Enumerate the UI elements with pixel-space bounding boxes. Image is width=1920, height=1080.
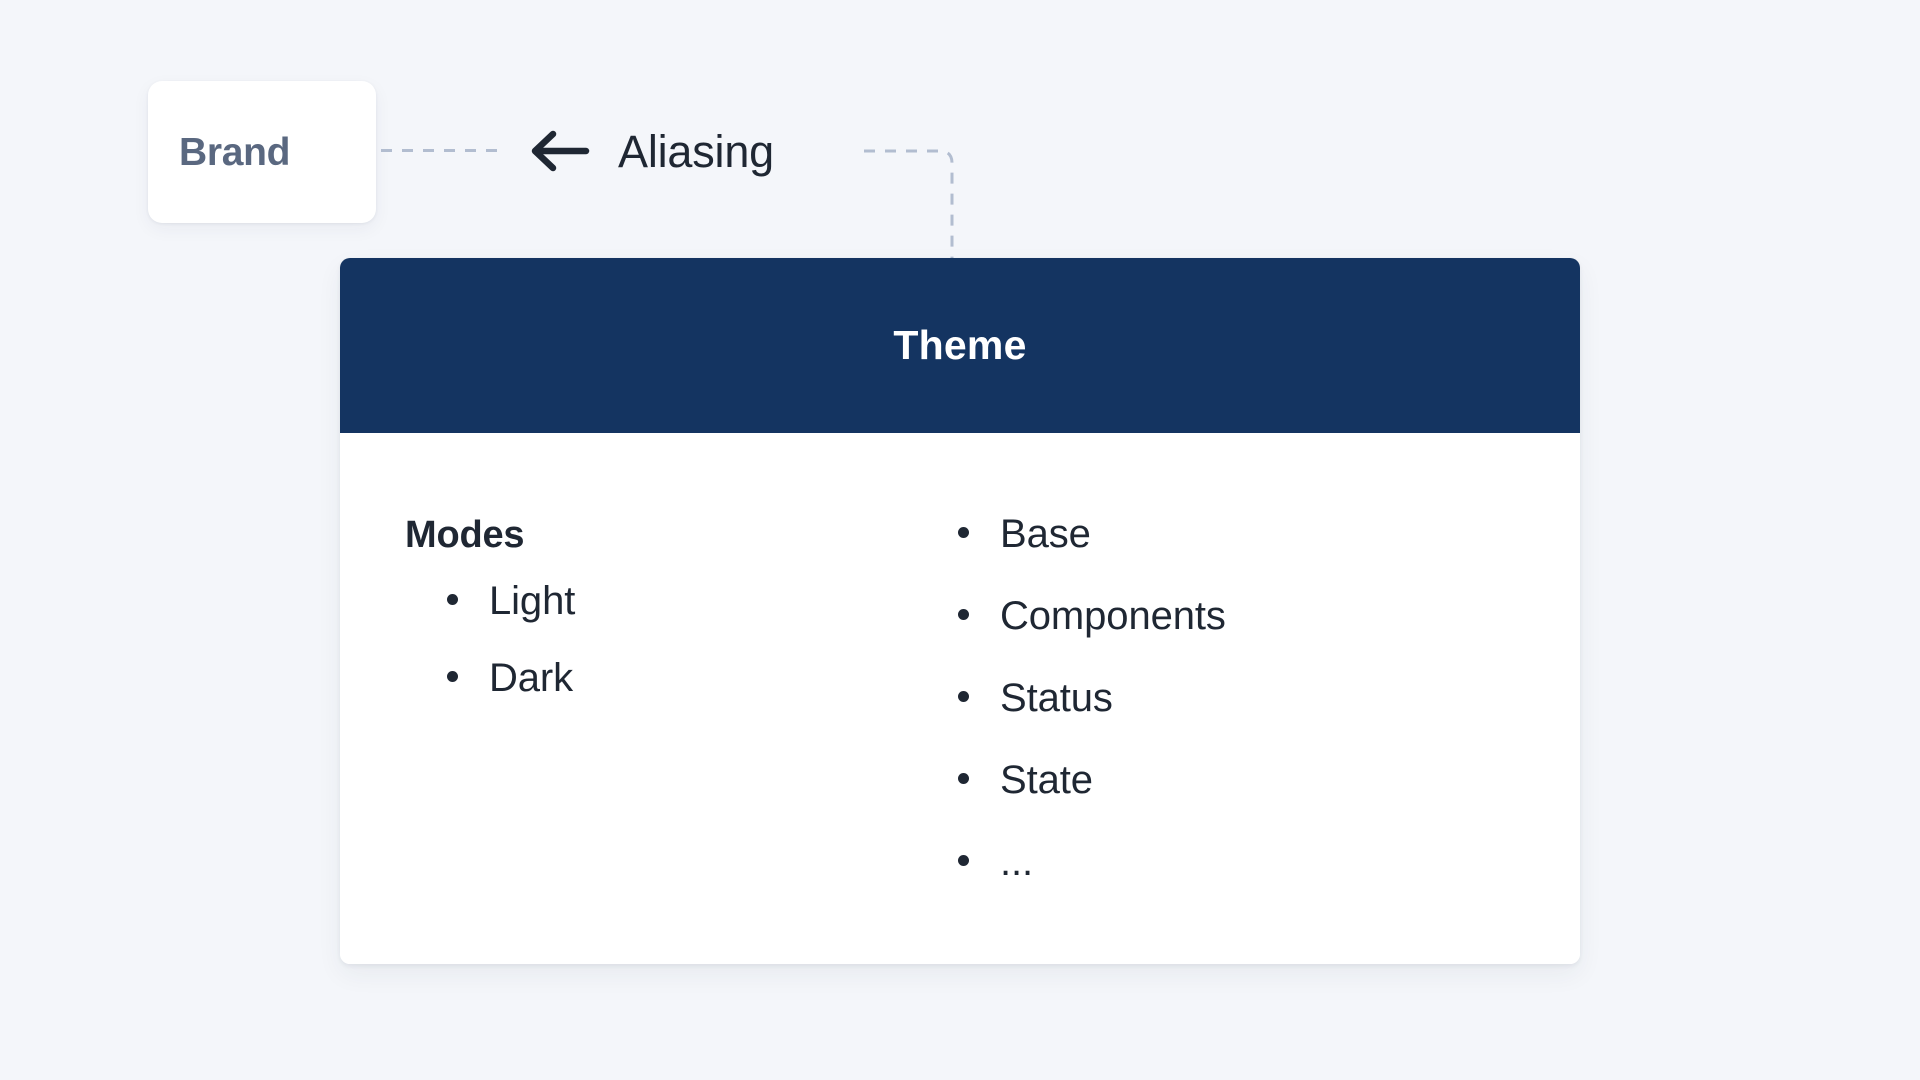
connector-aliasing-to-theme <box>862 138 972 268</box>
bullet-icon <box>958 855 969 866</box>
bullet-icon <box>958 527 969 538</box>
token-groups-list: Base Components Status State <box>958 514 1580 882</box>
token-group-label: Base <box>1000 514 1091 554</box>
bullet-icon <box>958 773 969 784</box>
aliasing-label: Aliasing <box>618 129 774 174</box>
bullet-icon <box>447 671 458 682</box>
token-group-label: State <box>1000 760 1093 800</box>
list-item[interactable]: Dark <box>405 658 880 698</box>
aliasing-link-group: Aliasing <box>528 108 774 194</box>
list-item[interactable]: Components <box>958 596 1580 636</box>
token-group-label: Status <box>1000 678 1113 718</box>
token-groups-column: Base Components Status State <box>880 514 1580 882</box>
theme-card-header: Theme <box>340 258 1580 433</box>
theme-card-body: Modes Light Dark Base <box>340 433 1580 964</box>
brand-node-card[interactable]: Brand <box>148 81 376 223</box>
modes-heading: Modes <box>405 516 880 554</box>
list-item[interactable]: Light <box>405 581 880 621</box>
connector-brand-to-aliasing <box>381 149 503 152</box>
bullet-icon <box>958 691 969 702</box>
list-item[interactable]: State <box>958 760 1580 800</box>
theme-card[interactable]: Theme Modes Light Dark <box>340 258 1580 964</box>
list-item[interactable]: Base <box>958 514 1580 554</box>
token-group-label: Components <box>1000 596 1226 636</box>
list-item[interactable]: ... <box>958 842 1580 882</box>
brand-node-label: Brand <box>148 133 290 172</box>
arrow-left-icon <box>528 129 590 173</box>
modes-item-label: Light <box>489 581 575 621</box>
modes-column: Modes Light Dark <box>340 516 880 698</box>
bullet-icon <box>447 594 458 605</box>
modes-item-label: Dark <box>489 658 573 698</box>
bullet-icon <box>958 609 969 620</box>
theme-card-title: Theme <box>893 325 1026 366</box>
diagram-canvas: Brand Aliasing Theme Modes <box>0 0 1920 1080</box>
modes-list: Light Dark <box>405 581 880 698</box>
list-item[interactable]: Status <box>958 678 1580 718</box>
token-group-label: ... <box>1000 842 1033 882</box>
